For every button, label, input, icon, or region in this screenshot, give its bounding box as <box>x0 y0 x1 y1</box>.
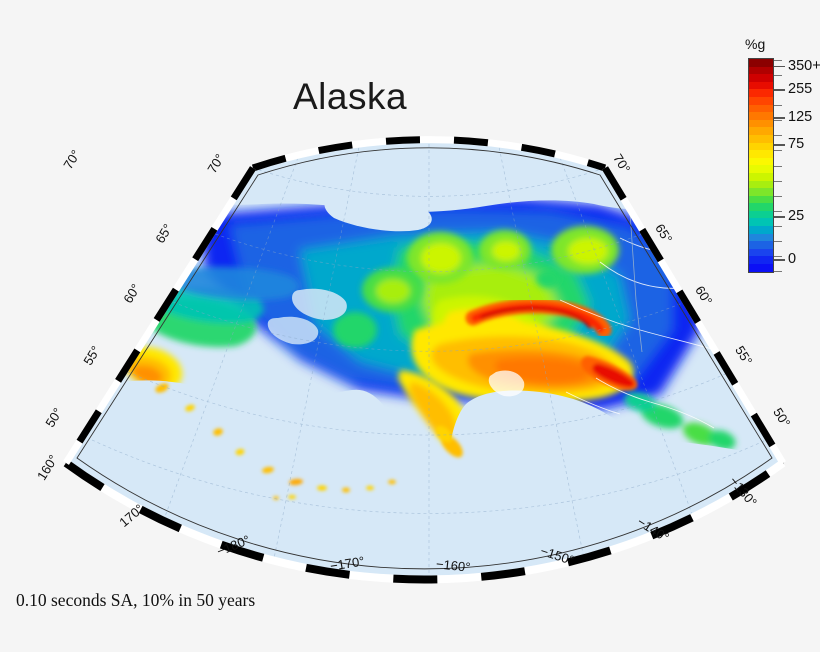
colorbar-minor-tick <box>774 226 782 227</box>
colorbar-minor-tick <box>774 166 782 167</box>
colorbar-segment <box>749 196 773 204</box>
colorbar-ticks: 350+25512575250 <box>774 58 820 273</box>
colorbar-major-tick <box>774 144 785 146</box>
colorbar-segment <box>749 59 773 67</box>
colorbar-segment <box>749 203 773 211</box>
colorbar-segment <box>749 234 773 242</box>
colorbar-segment <box>749 135 773 143</box>
colorbar-segment <box>749 241 773 249</box>
colorbar-segment <box>749 150 773 158</box>
colorbar-segment <box>749 82 773 90</box>
colorbar-minor-tick <box>774 196 782 197</box>
colorbar-segment <box>749 211 773 219</box>
colorbar-major-tick <box>774 216 785 218</box>
colorbar-label: 25 <box>788 208 804 224</box>
colorbar-major-tick <box>774 117 785 119</box>
colorbar-title: %g <box>745 36 765 52</box>
colorbar-minor-tick <box>774 211 782 212</box>
colorbar-segment <box>749 120 773 128</box>
colorbar-segment <box>749 158 773 166</box>
colorbar-minor-tick <box>774 256 782 257</box>
colorbar: %g 350+25512575250 <box>742 36 820 286</box>
colorbar-segment <box>749 112 773 120</box>
colorbar-label: 75 <box>788 136 804 152</box>
colorbar-segment <box>749 218 773 226</box>
colorbar-segment <box>749 264 773 272</box>
colorbar-minor-tick <box>774 271 782 272</box>
page-title: Alaska <box>0 76 700 118</box>
colorbar-major-tick <box>774 89 785 91</box>
colorbar-segment <box>749 97 773 105</box>
colorbar-segment <box>749 105 773 113</box>
colorbar-segment <box>749 173 773 181</box>
colorbar-minor-tick <box>774 135 782 136</box>
colorbar-minor-tick <box>774 241 782 242</box>
colorbar-segment <box>749 67 773 75</box>
colorbar-segment <box>749 226 773 234</box>
colorbar-minor-tick <box>774 105 782 106</box>
colorbar-label: 0 <box>788 251 796 267</box>
colorbar-segment <box>749 74 773 82</box>
colorbar-label: 350+ <box>788 58 820 74</box>
colorbar-segment <box>749 127 773 135</box>
colorbar-minor-tick <box>774 60 782 61</box>
colorbar-segment <box>749 249 773 257</box>
colorbar-segment <box>749 256 773 264</box>
colorbar-major-tick <box>774 66 785 68</box>
colorbar-label: 125 <box>788 109 812 125</box>
colorbar-minor-tick <box>774 181 782 182</box>
colorbar-segment <box>749 89 773 97</box>
colorbar-gradient <box>748 58 774 273</box>
figure-caption: 0.10 seconds SA, 10% in 50 years <box>16 590 255 611</box>
colorbar-minor-tick <box>774 120 782 121</box>
colorbar-minor-tick <box>774 75 782 76</box>
colorbar-major-tick <box>774 259 785 261</box>
colorbar-segment <box>749 188 773 196</box>
colorbar-segment <box>749 165 773 173</box>
colorbar-segment <box>749 181 773 189</box>
colorbar-label: 255 <box>788 81 812 97</box>
colorbar-segment <box>749 143 773 151</box>
colorbar-minor-tick <box>774 150 782 151</box>
